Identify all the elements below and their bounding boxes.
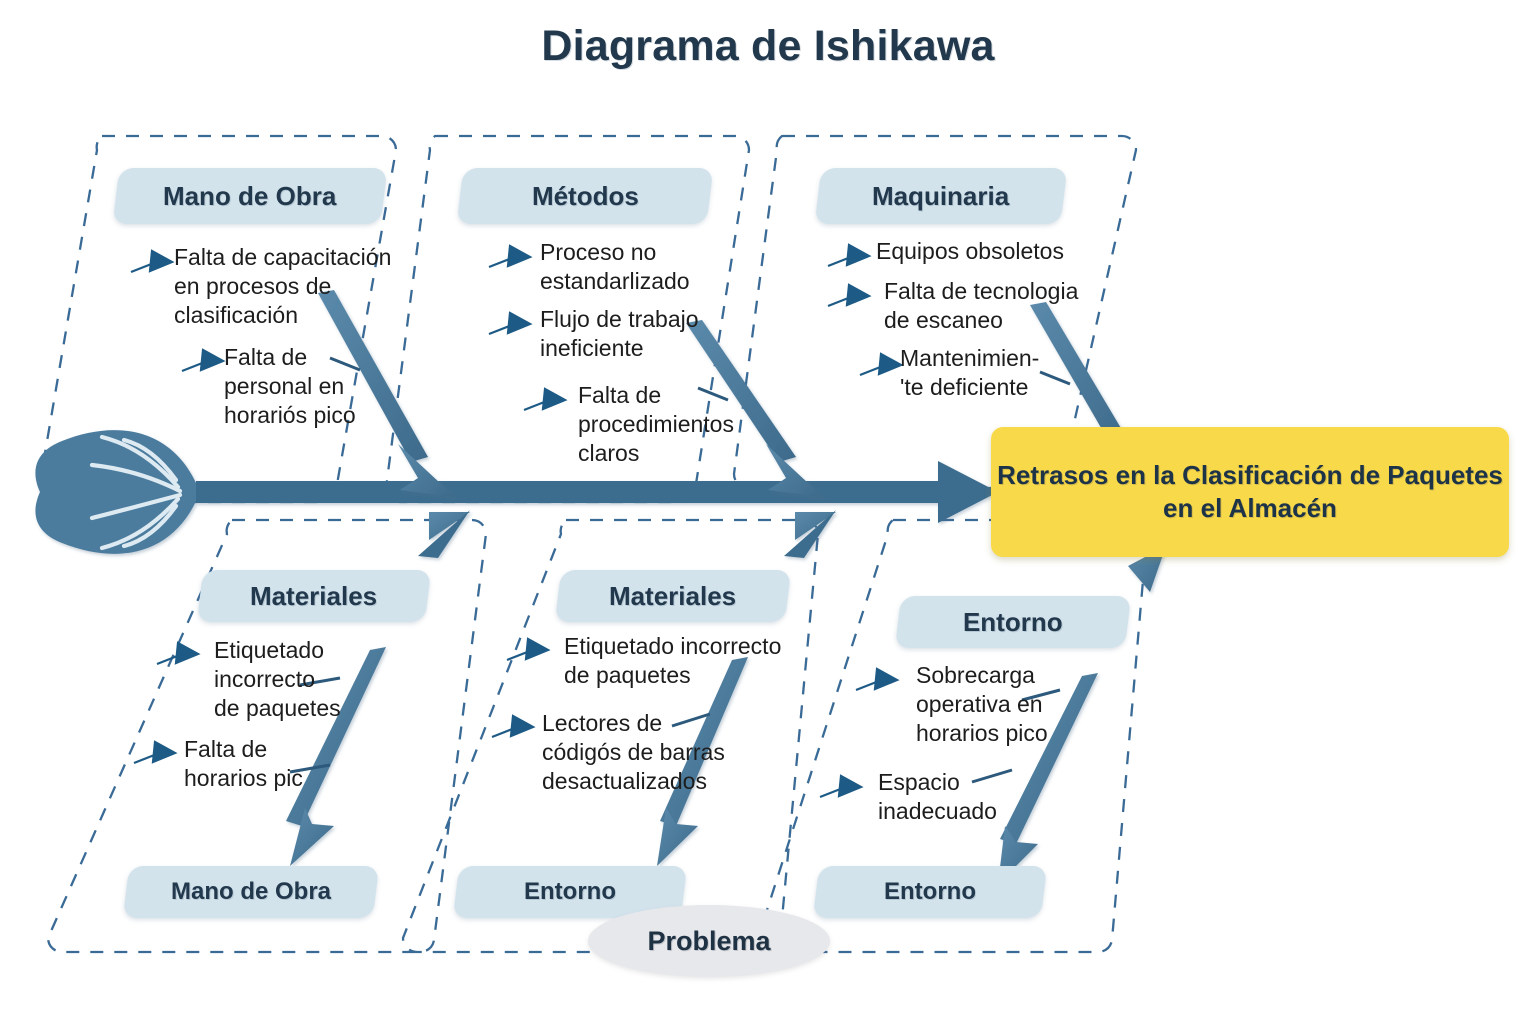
category-pill-metodos[interactable]: Métodos bbox=[457, 168, 714, 224]
cause-text: Flujo de trabajo ineficiente bbox=[540, 305, 760, 363]
cause-text: Equipos obsoletos bbox=[876, 237, 1116, 266]
cause-text: Espacio inadecuado bbox=[878, 768, 1078, 826]
category-pill-materiales-1[interactable]: Materiales bbox=[197, 570, 431, 622]
cause-arrow bbox=[492, 716, 533, 737]
category-pill-maquinaria[interactable]: Maquinaria bbox=[815, 168, 1068, 224]
cause-arrow bbox=[134, 742, 175, 763]
cause-text: Sobrecarga operativa en horarios pico bbox=[916, 661, 1116, 748]
fish-tail-icon bbox=[35, 430, 200, 554]
cause-text: Falta de personal en horariós pico bbox=[224, 343, 444, 430]
cause-text: Falta de procedimientos claros bbox=[578, 381, 778, 468]
foot-pill-entorno-2[interactable]: Entorno bbox=[813, 866, 1047, 918]
category-label: Materiales bbox=[250, 581, 377, 612]
foot-label: Entorno bbox=[884, 878, 976, 906]
cause-arrow bbox=[820, 776, 861, 797]
category-label: Métodos bbox=[532, 181, 639, 212]
foot-label: Entorno bbox=[524, 878, 616, 906]
category-label: Maquinaria bbox=[872, 181, 1009, 212]
category-pill-entorno[interactable]: Entorno bbox=[895, 596, 1131, 648]
cause-text: Mantenimien- 'te deficiente bbox=[900, 344, 1120, 402]
spine-arrow bbox=[196, 461, 998, 523]
foot-label: Mano de Obra bbox=[171, 878, 331, 906]
category-label: Entorno bbox=[963, 607, 1063, 638]
cause-arrow bbox=[860, 354, 901, 375]
cause-arrow bbox=[489, 246, 530, 267]
problema-legend[interactable]: Problema bbox=[588, 905, 830, 977]
cause-arrow bbox=[131, 251, 172, 272]
problema-label: Problema bbox=[647, 926, 770, 957]
cause-text: Falta de tecnologia de escaneo bbox=[884, 277, 1124, 335]
cause-arrow bbox=[157, 643, 198, 664]
cause-text: Proceso no estandarlizado bbox=[540, 238, 760, 296]
category-pill-materiales-2[interactable]: Materiales bbox=[555, 570, 791, 622]
cause-arrow bbox=[856, 669, 897, 690]
problem-box[interactable]: Retrasos en la Clasificación de Paquetes… bbox=[991, 427, 1509, 557]
cause-text: Etiquetado incorrecto de paquetes bbox=[214, 636, 414, 723]
cause-arrow bbox=[524, 389, 565, 410]
category-label: Materiales bbox=[609, 581, 736, 612]
cause-text: Falta de horarios pic bbox=[184, 735, 384, 793]
category-label: Mano de Obra bbox=[163, 181, 336, 212]
problem-label: Retrasos en la Clasificación de Paquetes… bbox=[991, 459, 1509, 526]
cause-text: Lectores de códigós de barras desactuali… bbox=[542, 709, 772, 796]
cause-arrow bbox=[489, 313, 530, 334]
cause-arrow bbox=[182, 350, 223, 371]
ishikawa-diagram: Diagrama de Ishikawa bbox=[0, 0, 1536, 1024]
cause-arrow bbox=[828, 245, 869, 266]
foot-pill-mano-de-obra[interactable]: Mano de Obra bbox=[123, 866, 379, 918]
cause-text: Falta de capacitación en procesos de cla… bbox=[174, 243, 422, 330]
cause-arrow bbox=[828, 285, 869, 306]
bone-connectors-upper bbox=[418, 510, 836, 558]
cause-text: Etiquetado incorrecto de paquetes bbox=[564, 632, 832, 690]
cause-arrow bbox=[507, 639, 548, 660]
category-pill-mano-de-obra[interactable]: Mano de Obra bbox=[113, 168, 388, 224]
